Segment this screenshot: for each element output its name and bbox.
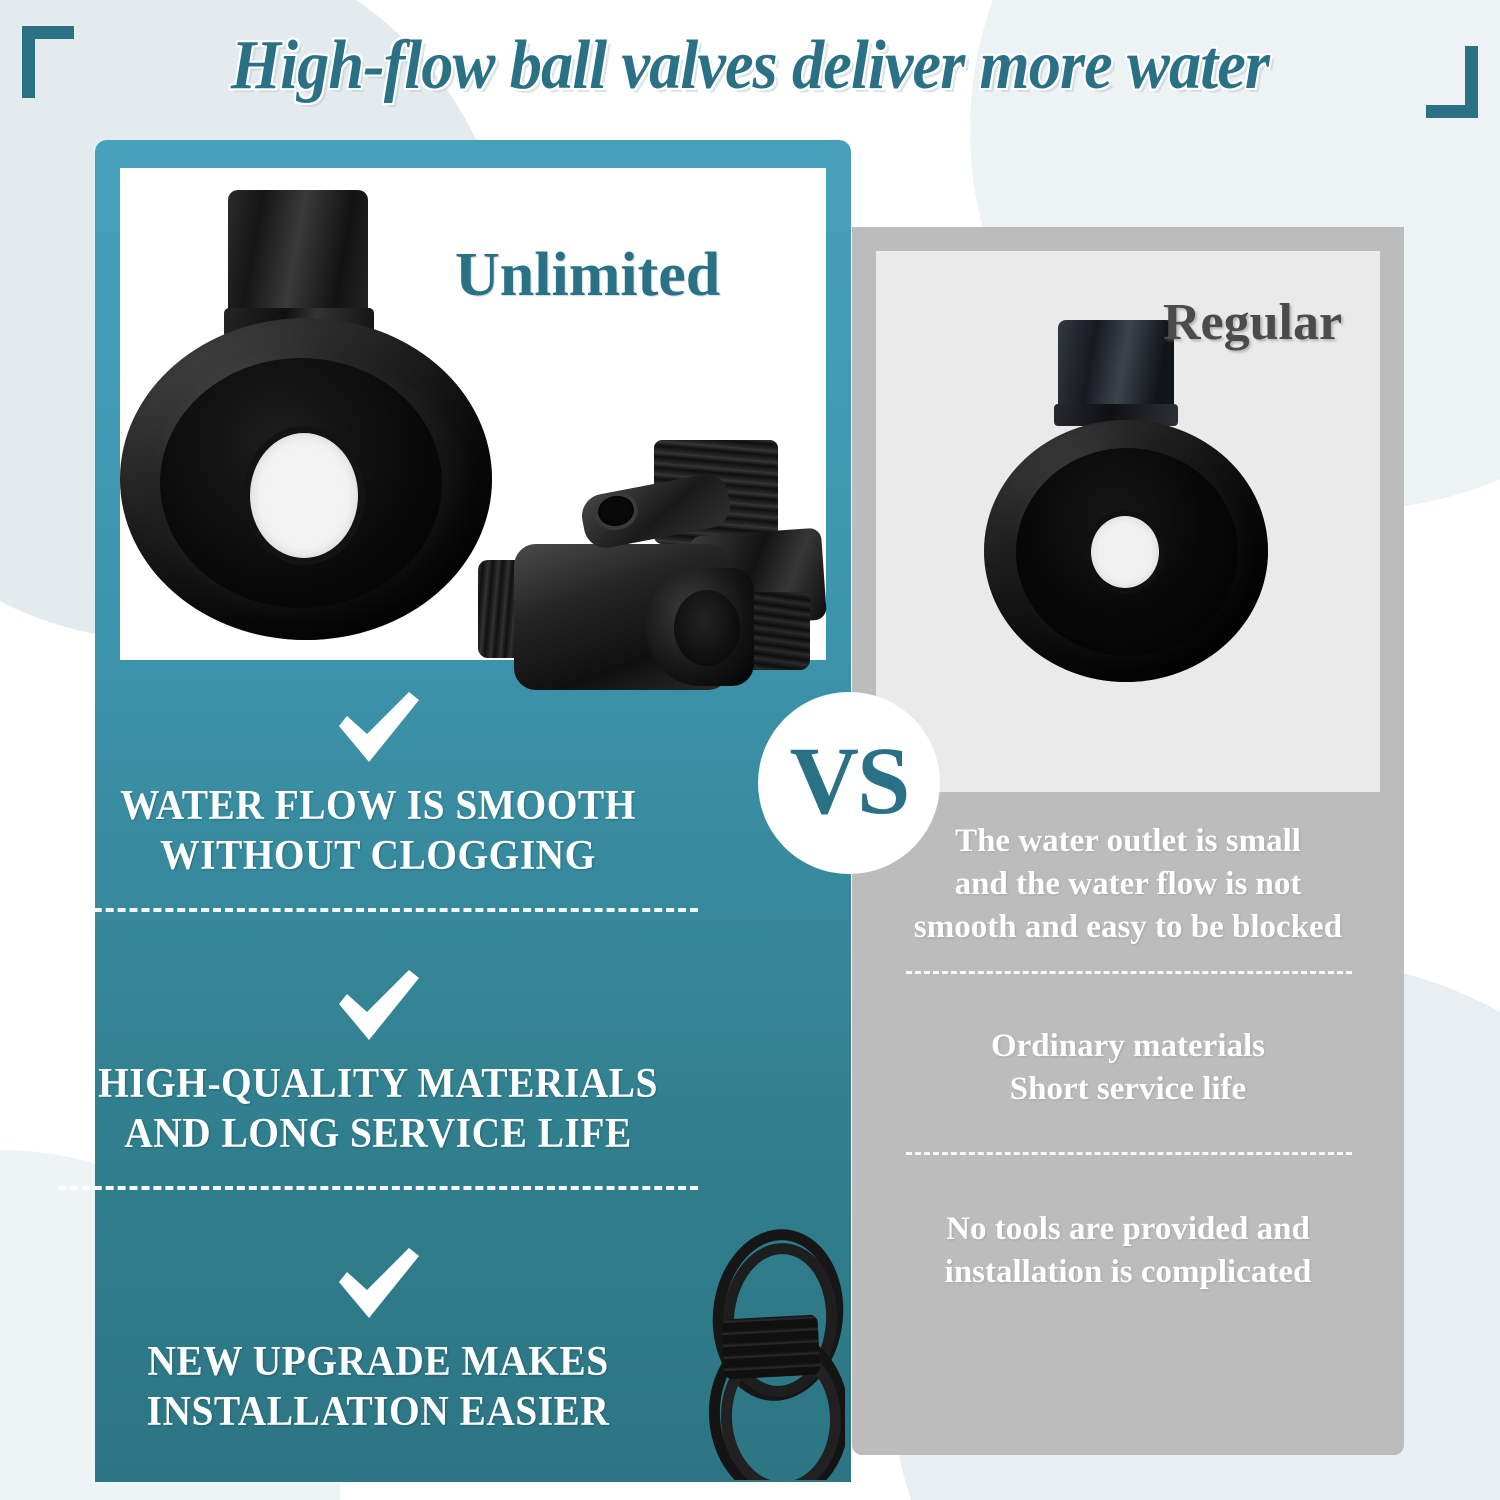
drawback-line-1: Ordinary materials — [876, 1025, 1380, 1068]
bracket-vertical-bar — [22, 26, 35, 98]
drawback-line-1: No tools are provided and — [876, 1208, 1380, 1251]
feature-line-1: NEW UPGRADE MAKES — [46, 1338, 710, 1388]
divider-left — [58, 908, 698, 912]
bracket-vertical-bar — [1465, 46, 1478, 118]
rope-binding-band — [721, 1315, 820, 1380]
unlimited-valve-photo — [120, 190, 500, 640]
drawback-line-3: smooth and easy to be blocked — [876, 906, 1380, 949]
drawback-item: The water outlet is small and the water … — [876, 820, 1380, 949]
check-icon — [333, 968, 423, 1044]
feature-item: NEW UPGRADE MAKES INSTALLATION EASIER — [25, 1246, 731, 1437]
ball-valve-outlet-bore — [674, 590, 740, 666]
divider-right — [906, 971, 1352, 974]
drawback-item: No tools are provided and installation i… — [876, 1208, 1380, 1294]
page-title: High-flow ball valves deliver more water — [60, 26, 1440, 106]
check-icon — [333, 690, 423, 766]
drawback-line-2: Short service life — [876, 1068, 1380, 1111]
drawback-line-1: The water outlet is small — [876, 820, 1380, 863]
drawback-item: Ordinary materials Short service life — [876, 1025, 1380, 1111]
feature-item: HIGH-QUALITY MATERIALS AND LONG SERVICE … — [25, 968, 731, 1159]
regular-valve-outlet-hole — [1091, 516, 1159, 588]
unlimited-valve-outlet-hole — [250, 433, 358, 558]
unlimited-product-label: Unlimited — [455, 240, 720, 311]
divider-left — [58, 1186, 698, 1190]
vs-badge: VS — [758, 692, 940, 874]
regular-valve-photo — [978, 320, 1278, 685]
feature-item: WATER FLOW IS SMOOTH WITHOUT CLOGGING — [25, 690, 731, 881]
feature-line-2: WITHOUT CLOGGING — [46, 832, 710, 882]
feature-line-1: HIGH-QUALITY MATERIALS — [46, 1060, 710, 1110]
drawback-line-2: installation is complicated — [876, 1251, 1380, 1294]
regular-product-label: Regular — [1163, 293, 1342, 352]
unlimited-valve-neck — [228, 190, 368, 320]
unlimited-ball-valve-photo — [478, 440, 830, 690]
feature-line-2: AND LONG SERVICE LIFE — [46, 1110, 710, 1160]
check-icon — [333, 1246, 423, 1322]
vs-badge-label: VS — [790, 725, 909, 836]
regular-valve-neck — [1058, 320, 1174, 412]
divider-right — [906, 1152, 1352, 1155]
feature-line-1: WATER FLOW IS SMOOTH — [46, 782, 710, 832]
drawback-line-2: and the water flow is not — [876, 863, 1380, 906]
feature-line-2: INSTALLATION EASIER — [46, 1388, 710, 1438]
